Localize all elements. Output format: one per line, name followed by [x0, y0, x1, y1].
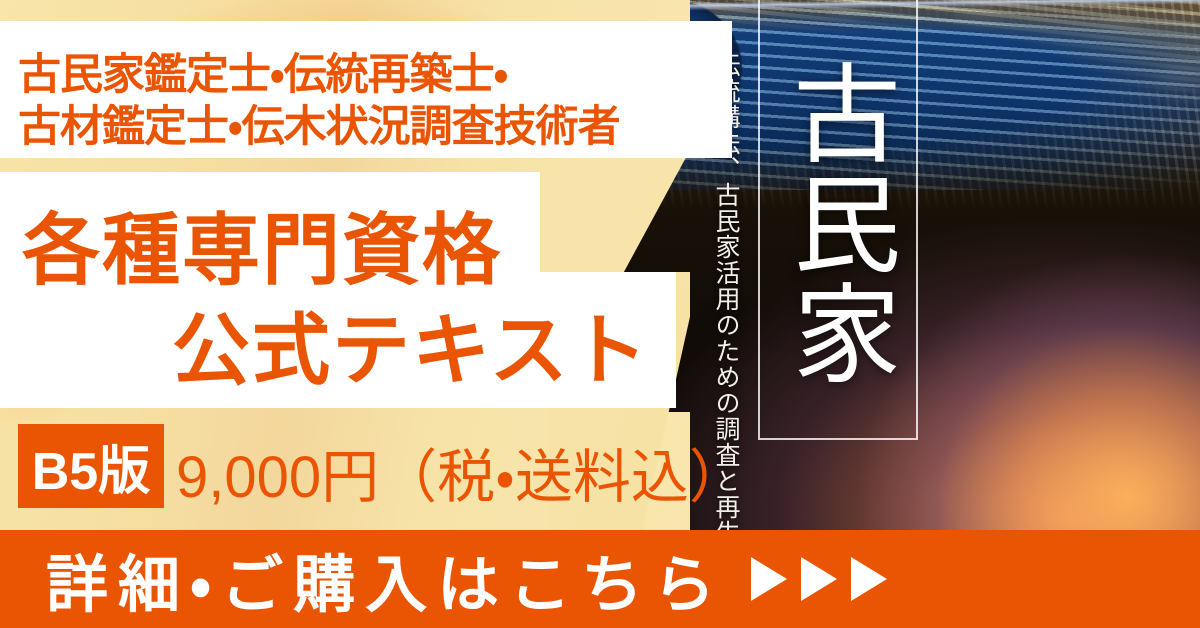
format-badge: B5版 — [18, 424, 164, 508]
cta-arrow-group — [751, 557, 887, 601]
cta-label: 詳細・ご購入はこちら — [46, 534, 725, 624]
play-arrow-icon — [801, 557, 837, 601]
title-line-1: 各種専門資格 — [22, 188, 502, 300]
cta-bar[interactable]: 詳細・ご購入はこちら — [0, 530, 1200, 628]
book-title: 古民家 — [770, 8, 906, 438]
headline-line-2: 古材鑑定士・伝木状況調査技術者 — [18, 92, 620, 154]
play-arrow-icon — [751, 557, 787, 601]
price-text: 9,000円（税・送料込） — [176, 430, 747, 514]
play-arrow-icon — [851, 557, 887, 601]
title-line-2: 公式テキスト — [172, 288, 650, 400]
promo-banner: 伝統構法、古民家活用のための調査と再生の 古民家 古民家鑑定士・伝統再築士・ 古… — [0, 0, 1200, 628]
